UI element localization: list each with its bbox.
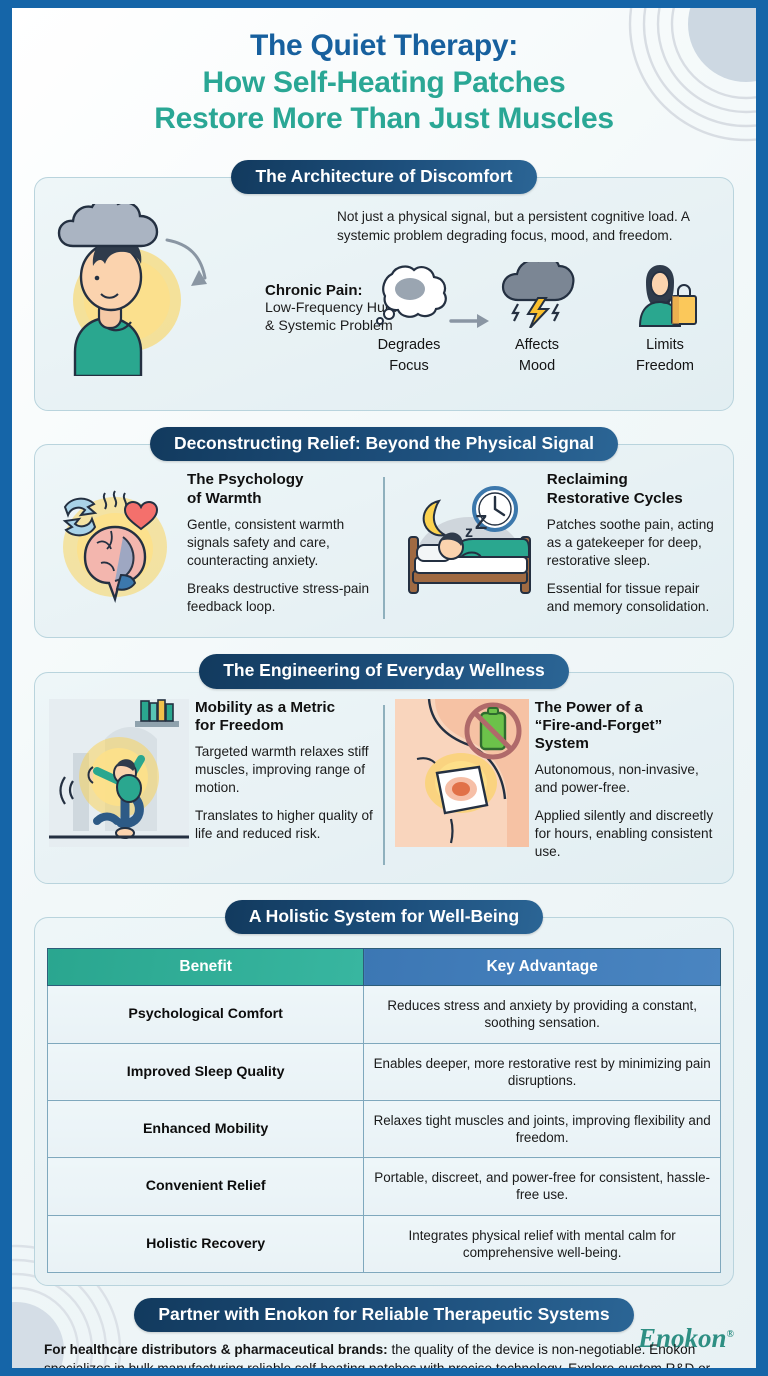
yoga-pose-bookshelf-icon — [49, 699, 189, 871]
col-para-mobility-1: Targeted warmth relaxes stiff muscles, i… — [195, 743, 373, 797]
cell-advantage: Portable, discreet, and power-free for c… — [364, 1158, 721, 1215]
column-mobility-metric: Mobility as a Metric for Freedom Targete… — [49, 699, 373, 871]
impact-label-3b: Freedom — [611, 358, 719, 375]
table-row: Psychological Comfort Reduces stress and… — [48, 986, 721, 1043]
footer-pill: Partner with Enokon for Reliable Therape… — [134, 1298, 633, 1332]
title-line-1: The Quiet Therapy: — [42, 28, 726, 65]
table-row: Enhanced Mobility Relaxes tight muscles … — [48, 1100, 721, 1157]
column-fire-and-forget: The Power of a “Fire-and-Forget” System … — [395, 699, 719, 871]
section-holistic-system: A Holistic System for Well-Being Benefit… — [34, 900, 734, 1286]
impact-label-2b: Mood — [483, 358, 591, 375]
footer-body-bold: For healthcare distributors & pharmaceut… — [44, 1342, 388, 1357]
heading-line-1: Reclaiming — [547, 471, 628, 488]
man-under-cloud-illustration — [49, 204, 259, 398]
table-row: Holistic Recovery Integrates physical re… — [48, 1215, 721, 1272]
heading-line-2: of Warmth — [187, 490, 262, 507]
heading-line-2: for Freedom — [195, 717, 284, 734]
heading-line-1: The Power of a — [535, 699, 643, 716]
cell-advantage: Integrates physical relief with mental c… — [364, 1215, 721, 1272]
table-header-key-advantage: Key Advantage — [364, 949, 721, 986]
woman-shopping-bag-icon — [626, 262, 704, 328]
impact-item-degrades-focus: Degrades Focus — [355, 262, 463, 376]
section-deconstructing-relief: Deconstructing Relief: Beyond the Physic… — [34, 427, 734, 638]
footer-body: For healthcare distributors & pharmaceut… — [44, 1341, 724, 1368]
svg-text:Z: Z — [475, 512, 487, 534]
section-1-lede: Not just a physical signal, but a persis… — [337, 208, 719, 246]
heading-line-1: The Psychology — [187, 471, 303, 488]
col-heading-psychology: The Psychology of Warmth — [187, 471, 373, 507]
table-header-benefit: Benefit — [48, 949, 364, 986]
col-para-psychology-1: Gentle, consistent warmth signals safety… — [187, 516, 373, 570]
impact-label-1a: Degrades — [355, 337, 463, 354]
brain-warmth-heart-icon — [49, 471, 181, 625]
heading-line-2: Restorative Cycles — [547, 490, 683, 507]
thought-cloud-icon — [370, 262, 448, 328]
col-heading-fire-and-forget: The Power of a “Fire-and-Forget” System — [535, 699, 719, 754]
cell-benefit: Improved Sleep Quality — [48, 1043, 364, 1100]
col-para-restorative-1: Patches soothe pain, acting as a gatekee… — [547, 516, 719, 570]
section-2-pill: Deconstructing Relief: Beyond the Physic… — [150, 427, 618, 461]
title-line-2: How Self-Heating Patches — [42, 65, 726, 102]
cell-benefit: Holistic Recovery — [48, 1215, 364, 1272]
table-row: Convenient Relief Portable, discreet, an… — [48, 1158, 721, 1215]
impact-label-1b: Focus — [355, 358, 463, 375]
impact-label-2a: Affects — [483, 337, 591, 354]
cell-advantage: Relaxes tight muscles and joints, improv… — [364, 1100, 721, 1157]
cell-advantage: Reduces stress and anxiety by providing … — [364, 986, 721, 1043]
col-para-fire-2: Applied silently and discreetly for hour… — [535, 807, 719, 861]
column-divider — [383, 477, 385, 619]
section-3-pill: The Engineering of Everyday Wellness — [199, 654, 569, 688]
col-heading-mobility: Mobility as a Metric for Freedom — [195, 699, 373, 735]
table-row: Improved Sleep Quality Enables deeper, m… — [48, 1043, 721, 1100]
page-title: The Quiet Therapy: How Self-Heating Patc… — [12, 8, 756, 144]
benefits-table: Benefit Key Advantage Psychological Comf… — [47, 948, 721, 1273]
col-para-mobility-2: Translates to higher quality of life and… — [195, 807, 373, 843]
storm-cloud-lightning-icon — [498, 262, 576, 328]
infographic-page: The Quiet Therapy: How Self-Heating Patc… — [0, 0, 768, 1376]
impact-item-limits-freedom: Limits Freedom — [611, 262, 719, 376]
col-para-restorative-2: Essential for tissue repair and memory c… — [547, 580, 719, 616]
section-architecture-of-discomfort: The Architecture of Discomfort — [34, 160, 734, 411]
cell-advantage: Enables deeper, more restorative rest by… — [364, 1043, 721, 1100]
cell-benefit: Psychological Comfort — [48, 986, 364, 1043]
section-1-pill: The Architecture of Discomfort — [231, 160, 536, 194]
title-line-3: Restore More Than Just Muscles — [42, 101, 726, 138]
section-footer-cta: Partner with Enokon for Reliable Therape… — [34, 1298, 734, 1368]
col-para-fire-1: Autonomous, non-invasive, and power-free… — [535, 761, 719, 797]
section-4-pill: A Holistic System for Well-Being — [225, 900, 543, 934]
col-heading-restorative: Reclaiming Restorative Cycles — [547, 471, 719, 507]
impact-icons-row: Degrades Focus Affects Mood — [355, 262, 719, 376]
sleeping-person-bed-icon: z Z — [395, 471, 541, 625]
column-divider — [383, 705, 385, 865]
infographic-canvas: The Quiet Therapy: How Self-Heating Patc… — [12, 8, 756, 1368]
heading-line-1: Mobility as a Metric — [195, 699, 335, 716]
cell-benefit: Enhanced Mobility — [48, 1100, 364, 1157]
column-psychology-of-warmth: The Psychology of Warmth Gentle, consist… — [49, 471, 373, 625]
impact-label-3a: Limits — [611, 337, 719, 354]
cell-benefit: Convenient Relief — [48, 1158, 364, 1215]
section-engineering-everyday-wellness: The Engineering of Everyday Wellness — [34, 654, 734, 884]
col-para-psychology-2: Breaks destructive stress-pain feedback … — [187, 580, 373, 616]
table-header-row: Benefit Key Advantage — [48, 949, 721, 986]
column-restorative-cycles: z Z — [395, 471, 719, 625]
impact-item-affects-mood: Affects Mood — [483, 262, 591, 376]
heading-line-2: “Fire-and-Forget” — [535, 717, 662, 734]
shoulder-patch-no-battery-icon — [395, 699, 529, 871]
heading-line-3: System — [535, 735, 589, 752]
